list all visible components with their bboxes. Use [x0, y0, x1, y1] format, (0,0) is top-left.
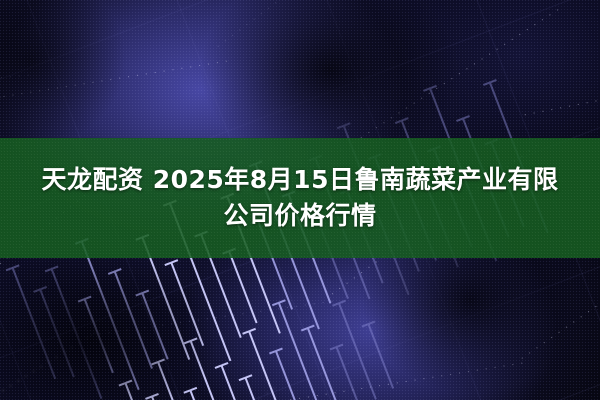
image-canvas: 天龙配资 2025年8月15日鲁南蔬菜产业有限公司价格行情 — [0, 0, 600, 400]
banner-title-text: 天龙配资 2025年8月15日鲁南蔬菜产业有限公司价格行情 — [30, 162, 570, 235]
title-banner: 天龙配资 2025年8月15日鲁南蔬菜产业有限公司价格行情 — [0, 138, 600, 258]
